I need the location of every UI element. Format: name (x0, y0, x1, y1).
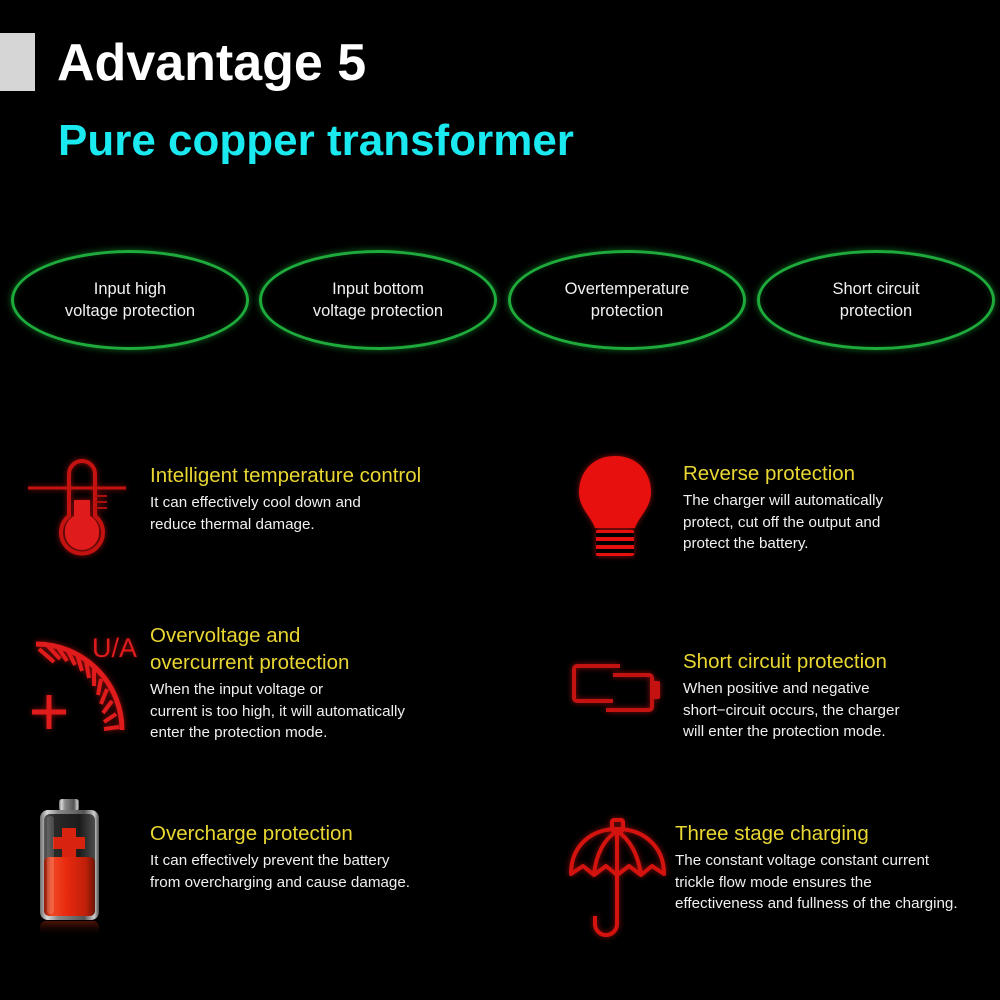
feature-text-block: Reverse protection The charger will auto… (683, 460, 993, 555)
protection-badge-row: Input high voltage protection Input bott… (0, 250, 1000, 352)
lightbulb-icon (565, 450, 665, 567)
feature-title: Short circuit protection (683, 648, 1000, 675)
badge-line-2: voltage protection (313, 302, 443, 320)
feature-text-block: Overcharge protection It can effectively… (150, 820, 510, 893)
badge-line-1: Short circuit (832, 280, 919, 298)
battery-plus-icon (30, 795, 110, 945)
feature-short-circuit-protection: Short circuit protection When positive a… (565, 648, 995, 763)
feature-description: When the input voltage or current is too… (150, 679, 500, 744)
feature-description: When positive and negative short−circuit… (683, 678, 1000, 743)
title-accent-bar (0, 33, 35, 91)
svg-text:U/A: U/A (92, 633, 137, 663)
protection-badge-input-high-voltage: Input high voltage protection (11, 250, 249, 350)
feature-three-stage-charging: Three stage charging The constant voltag… (565, 812, 1000, 942)
protection-badge-label: Input bottom voltage protection (259, 278, 497, 322)
protection-badge-label: Short circuit protection (757, 278, 995, 322)
badge-line-2: voltage protection (65, 302, 195, 320)
protection-badge-short-circuit: Short circuit protection (757, 250, 995, 350)
badge-line-2: protection (840, 302, 912, 320)
feature-text-block: Three stage charging The constant voltag… (675, 820, 1000, 915)
feature-text-block: Short circuit protection When positive a… (683, 648, 1000, 743)
feature-description: It can effectively cool down and reduce … (150, 492, 500, 535)
umbrella-icon (565, 812, 670, 942)
page-title: Advantage 5 (57, 34, 366, 92)
feature-title: Overvoltage and overcurrent protection (150, 622, 500, 676)
thermometer-icon (22, 452, 132, 562)
badge-line-1: Input bottom (332, 280, 424, 298)
feature-overcharge-protection: Overcharge protection It can effectively… (30, 795, 500, 940)
feature-title: Three stage charging (675, 820, 1000, 847)
gauge-icon: U/A (22, 630, 147, 750)
feature-title: Reverse protection (683, 460, 993, 487)
feature-description: It can effectively prevent the battery f… (150, 850, 510, 893)
feature-intelligent-temperature-control: Intelligent temperature control It can e… (22, 452, 492, 552)
protection-badge-overtemperature: Overtemperature protection (508, 250, 746, 350)
feature-title: Intelligent temperature control (150, 462, 500, 489)
battery-break-icon (565, 648, 670, 733)
feature-text-block: Overvoltage and overcurrent protection W… (150, 622, 500, 744)
protection-badge-input-bottom-voltage: Input bottom voltage protection (259, 250, 497, 350)
feature-text-block: Intelligent temperature control It can e… (150, 462, 500, 535)
feature-description: The constant voltage constant current tr… (675, 850, 1000, 915)
page-subtitle: Pure copper transformer (58, 115, 574, 167)
feature-reverse-protection: Reverse protection The charger will auto… (565, 450, 995, 565)
protection-badge-label: Input high voltage protection (11, 278, 249, 322)
protection-badge-label: Overtemperature protection (508, 278, 746, 322)
feature-description: The charger will automatically protect, … (683, 490, 993, 555)
badge-line-1: Overtemperature (565, 280, 690, 298)
badge-line-2: protection (591, 302, 663, 320)
feature-title: Overcharge protection (150, 820, 510, 847)
feature-overvoltage-overcurrent-protection: U/A Overvoltage and overcurrent protecti… (22, 630, 492, 755)
badge-line-1: Input high (94, 280, 166, 298)
